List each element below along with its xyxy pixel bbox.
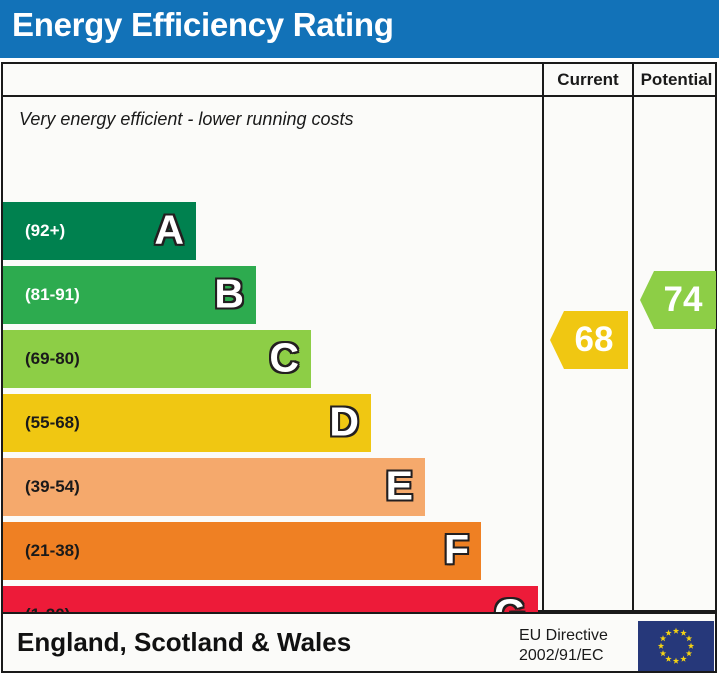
column-divider-potential xyxy=(632,64,634,610)
rating-band-f: (21-38)F xyxy=(3,522,481,580)
rating-band-a: (92+)A xyxy=(3,202,196,260)
rating-band-d: (55-68)D xyxy=(3,394,371,452)
caption-efficient: Very energy efficient - lower running co… xyxy=(19,109,354,130)
band-range-label: (55-68) xyxy=(25,413,80,433)
eu-flag-stars xyxy=(638,621,714,671)
band-range-label: (69-80) xyxy=(25,349,80,369)
band-range-label: (39-54) xyxy=(25,477,80,497)
band-range-label: (81-91) xyxy=(25,285,80,305)
potential-rating-value: 74 xyxy=(664,280,703,320)
footer-directive-label: EU Directive 2002/91/EC xyxy=(519,626,608,666)
footer-bar: England, Scotland & Wales EU Directive 2… xyxy=(1,612,717,673)
band-letter-d: D xyxy=(329,402,359,443)
column-header-current: Current xyxy=(544,64,632,95)
rating-band-e: (39-54)E xyxy=(3,458,425,516)
band-letter-b: B xyxy=(214,274,244,315)
current-rating-value: 68 xyxy=(575,320,614,360)
chart-title-bar: Energy Efficiency Rating xyxy=(0,0,719,58)
band-letter-f: F xyxy=(444,530,469,571)
footer-directive-line1: EU Directive xyxy=(519,626,608,646)
column-divider-current xyxy=(542,64,544,610)
band-letter-e: E xyxy=(386,466,413,507)
eu-flag-icon xyxy=(638,621,714,671)
page-title: Energy Efficiency Rating xyxy=(12,6,394,44)
footer-directive-line2: 2002/91/EC xyxy=(519,646,608,666)
rating-band-c: (69-80)C xyxy=(3,330,311,388)
rating-band-b: (81-91)B xyxy=(3,266,256,324)
band-range-label: (92+) xyxy=(25,221,65,241)
band-range-label: (21-38) xyxy=(25,541,80,561)
band-letter-a: A xyxy=(154,210,184,251)
band-letter-c: C xyxy=(269,338,299,379)
rating-scale-frame: Current Potential Very energy efficient … xyxy=(1,62,717,612)
column-header-row: Current Potential xyxy=(3,64,715,97)
footer-region-label: England, Scotland & Wales xyxy=(17,627,351,658)
energy-efficiency-rating-chart: Energy Efficiency Rating Current Potenti… xyxy=(0,0,719,675)
current-rating-marker: 68 xyxy=(550,311,628,369)
column-header-potential: Potential xyxy=(634,64,719,95)
potential-rating-marker: 74 xyxy=(640,271,716,329)
